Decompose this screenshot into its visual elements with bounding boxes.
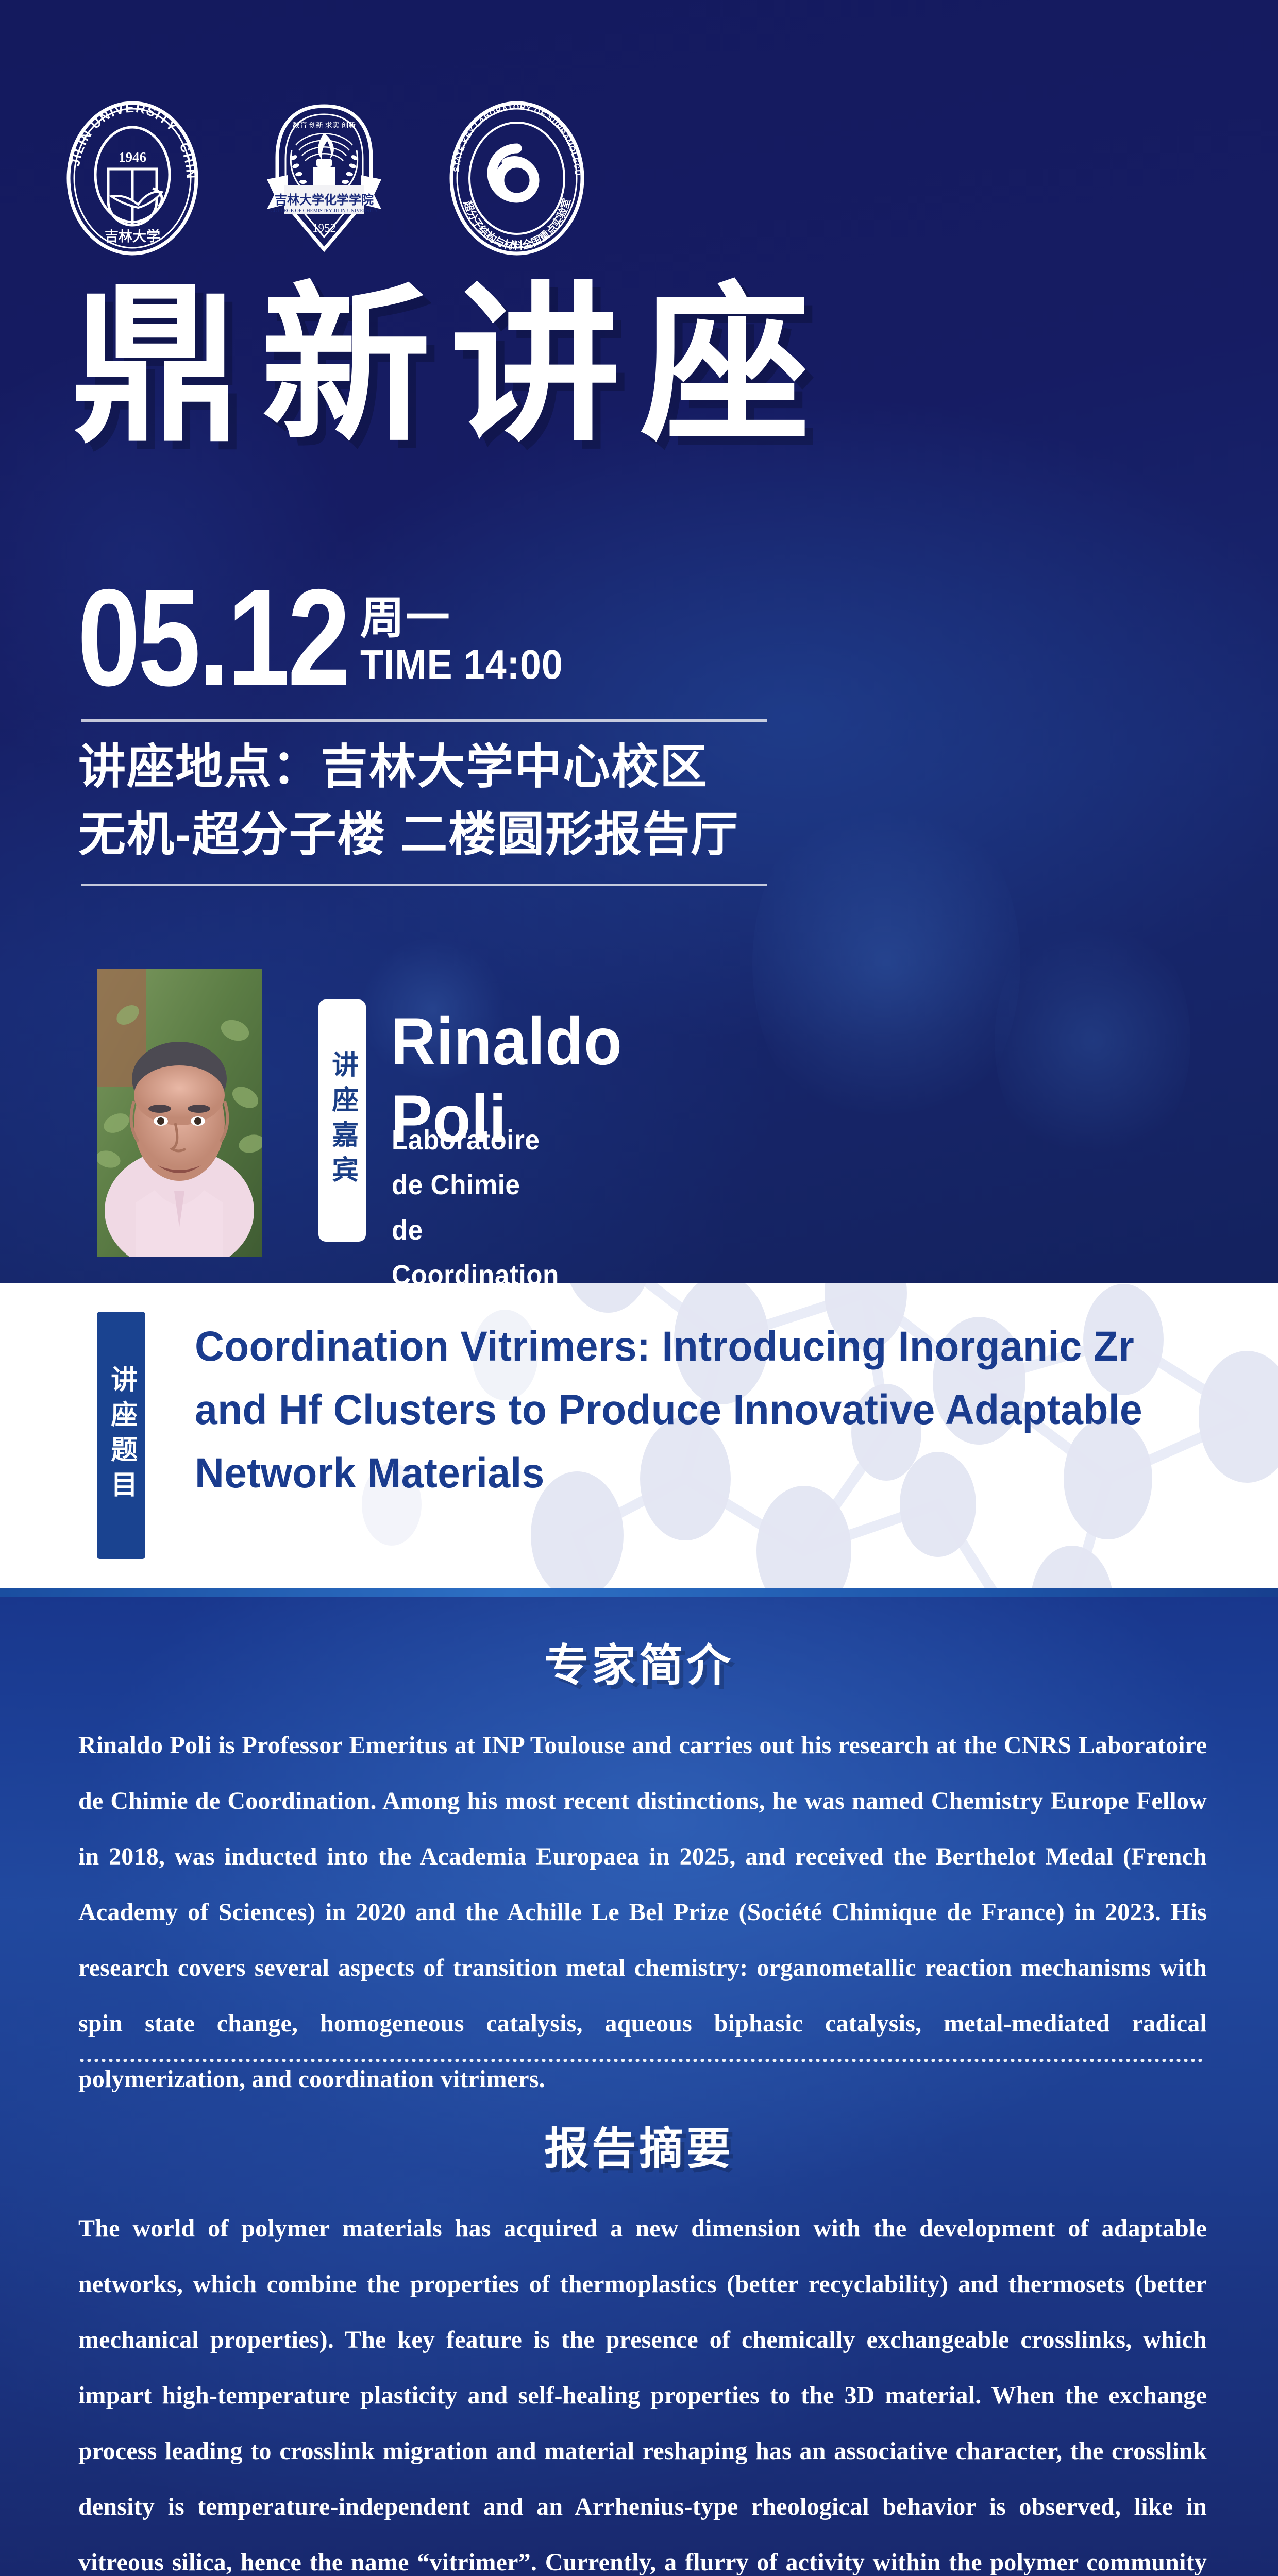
svg-text:超分子结构与材料全国重点实验室: 超分子结构与材料全国重点实验室 <box>461 197 573 252</box>
abstract-text: The world of polymer materials has acqui… <box>78 2201 1207 2576</box>
jilin-university-seal-icon: 1946 JILIN UNIVERSITY · CHINA 吉林大学 <box>66 101 199 256</box>
speaker-affiliation: Laboratoire de Chimie de Coordination Na… <box>392 1118 559 1283</box>
speaker-tag-label: 讲座嘉宾 <box>325 1050 360 1191</box>
date-row: 05.12 周一 TIME 14:00 <box>77 581 581 694</box>
bokeh-circle <box>995 907 1190 1175</box>
topic-tag: 讲座题目 <box>97 1312 145 1559</box>
topic-tag-label: 讲座题目 <box>104 1365 139 1505</box>
svg-text:教育 创新 求实 创新: 教育 创新 求实 创新 <box>293 122 356 130</box>
svg-text:吉林大学化学学院: 吉林大学化学学院 <box>275 193 374 207</box>
time-label: TIME 14:00 <box>360 642 563 687</box>
bio-heading: 专家简介 <box>0 1629 1278 1693</box>
abstract-heading: 报告摘要 <box>0 2112 1278 2177</box>
venue-line-2: 无机-超分子楼 二楼圆形报告厅 <box>78 801 739 869</box>
state-key-laboratory-seal-icon: STATE KEY LABORATORY OF SUPRAMOLECULAR S… <box>449 101 584 256</box>
svg-text:1952: 1952 <box>312 222 336 234</box>
date-number: 05.12 <box>77 581 348 694</box>
venue-block: 讲座地点：吉林大学中心校区 无机-超分子楼 二楼圆形报告厅 <box>78 734 739 868</box>
divider-below-venue <box>81 884 767 886</box>
topic-section: 讲座题目 Coordination Vitrimers: Introducing… <box>0 1283 1278 1597</box>
lecture-poster: 1946 JILIN UNIVERSITY · CHINA 吉林大学 <box>0 0 1278 2576</box>
college-of-chemistry-seal-icon: 教育 创新 求实 创新 <box>260 101 389 256</box>
speaker-affiliation-line-1: Laboratoire de Chimie de Coordination <box>392 1118 559 1283</box>
divider-above-venue <box>81 719 767 722</box>
topic-band-bottom-edge <box>0 1588 1278 1597</box>
weekday-label: 周一 <box>360 595 581 641</box>
section-divider-dotted <box>78 2059 1205 2062</box>
poster-main-title: 鼎新讲座 <box>71 281 830 451</box>
hero-section: 1946 JILIN UNIVERSITY · CHINA 吉林大学 <box>0 0 1278 1283</box>
bokeh-circle <box>752 783 1020 1144</box>
speaker-tag: 讲座嘉宾 <box>318 999 366 1242</box>
abstract-part-1: The world of polymer materials has acqui… <box>78 2215 1207 2576</box>
topic-title: Coordination Vitrimers: Introducing Inor… <box>195 1315 1174 1505</box>
speaker-photo <box>97 969 262 1257</box>
svg-text:1946: 1946 <box>119 149 146 165</box>
svg-text:吉林大学: 吉林大学 <box>105 228 160 244</box>
venue-line-1: 讲座地点：吉林大学中心校区 <box>78 734 739 801</box>
bio-text: Rinaldo Poli is Professor Emeritus at IN… <box>78 1718 1207 2107</box>
svg-text:COLLEGE OF CHEMISTRY JILIN UNI: COLLEGE OF CHEMISTRY JILIN UNIVERSITY <box>270 208 378 214</box>
logo-row: 1946 JILIN UNIVERSITY · CHINA 吉林大学 <box>66 101 584 256</box>
content-section: 专家简介 Rinaldo Poli is Professor Emeritus … <box>0 1597 1278 2576</box>
date-detail: 周一 TIME 14:00 <box>360 595 581 694</box>
